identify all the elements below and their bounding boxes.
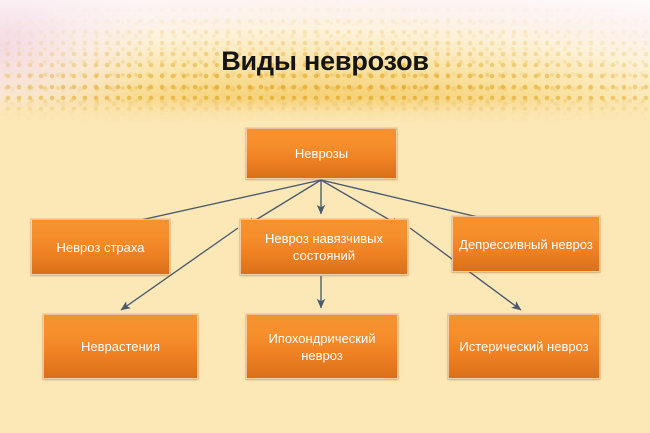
node-hypochondriac[interactable]: Ипохондрический невроз	[246, 314, 398, 379]
node-fear-label: Невроз страха	[38, 239, 163, 256]
node-root-label: Неврозы	[253, 145, 390, 162]
node-fear[interactable]: Невроз страха	[31, 219, 170, 275]
node-neurasthenia-label: Неврастения	[50, 338, 191, 355]
node-neurasthenia[interactable]: Неврастения	[43, 314, 198, 379]
node-root[interactable]: Неврозы	[246, 128, 397, 179]
node-obsessive-label: Невроз навязчивых состояний	[247, 230, 401, 264]
node-depressive-label: Депрессивный невроз	[459, 236, 593, 253]
node-hypochondriac-label: Ипохондрический невроз	[253, 330, 391, 364]
node-hysterical[interactable]: Истерический невроз	[448, 314, 600, 379]
node-depressive[interactable]: Депрессивный невроз	[452, 216, 600, 272]
slide-canvas: Виды неврозов Неврозы Невроз страха Невр…	[0, 0, 650, 433]
node-obsessive[interactable]: Невроз навязчивых состояний	[240, 219, 408, 275]
node-hysterical-label: Истерический невроз	[455, 338, 593, 355]
